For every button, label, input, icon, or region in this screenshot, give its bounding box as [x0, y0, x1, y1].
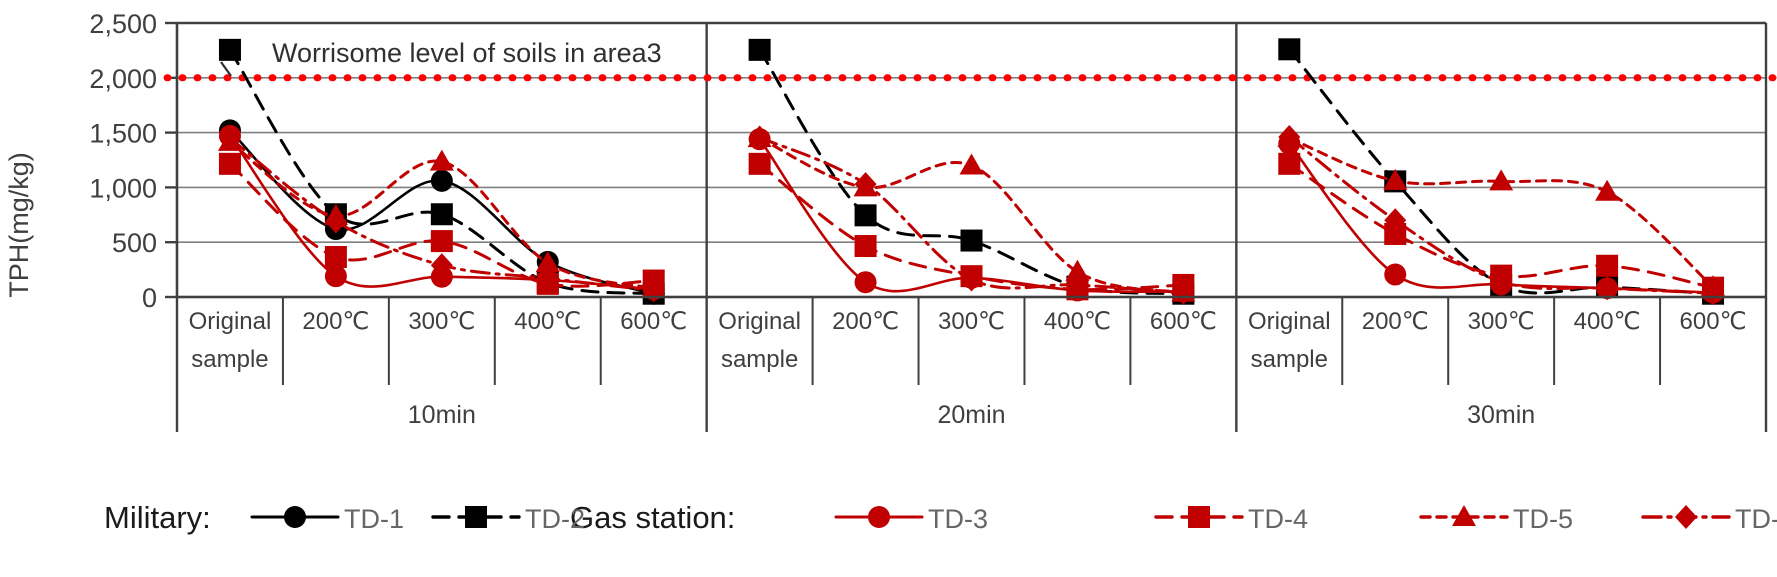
- y-axis-title: TPH(mg/kg): [4, 152, 34, 298]
- data-point-square: [1278, 38, 1300, 60]
- y-tick-label: 1,500: [89, 119, 157, 149]
- legend-item-label: TD-3: [928, 504, 988, 534]
- y-tick-label: 2,500: [89, 9, 157, 39]
- data-point-square: [855, 204, 877, 226]
- data-point-circle: [431, 170, 453, 192]
- data-point-square: [1278, 153, 1300, 175]
- x-category-label: Originalsample: [1248, 308, 1331, 373]
- x-category-label: 400℃: [514, 308, 581, 335]
- legend-item-td-6[interactable]: TD-6: [1643, 504, 1777, 534]
- x-category-label-line: 600℃: [620, 308, 687, 335]
- legend-sample-td-5: [1421, 505, 1507, 526]
- data-point-square: [219, 39, 241, 61]
- x-category-label: 200℃: [1362, 308, 1429, 335]
- x-category-label: 300℃: [408, 308, 475, 335]
- x-category-label-line: 200℃: [1362, 308, 1429, 335]
- x-category-label-line: 600℃: [1150, 308, 1217, 335]
- x-group-label: 10min: [408, 401, 476, 429]
- y-tick-label: 0: [142, 283, 157, 313]
- legend: Military:Gas station:TD-1TD-2TD-3TD-4TD-…: [104, 500, 1777, 535]
- x-axis-table: Originalsample200℃300℃400℃600℃10minOrigi…: [177, 297, 1766, 432]
- data-point-square: [1596, 255, 1618, 277]
- x-category-label-line: 300℃: [408, 308, 475, 335]
- y-tick-label: 1,000: [89, 173, 157, 203]
- legend-sample-td-1: [252, 506, 338, 528]
- x-category-label-line: sample: [1251, 346, 1328, 373]
- x-category-label: 300℃: [938, 308, 1005, 335]
- legend-item-label: TD-6: [1735, 504, 1777, 534]
- x-category-label: 300℃: [1468, 308, 1535, 335]
- tph-line-chart: TPH(mg/kg) 2,5002,0001,5001,0005000 Orig…: [0, 0, 1777, 577]
- y-tick-label: 500: [112, 228, 157, 258]
- data-point-circle: [1384, 264, 1406, 286]
- x-category-label-line: Original: [189, 308, 272, 335]
- data-point-circle: [855, 271, 877, 293]
- data-point-diamond: [1675, 505, 1697, 529]
- x-category-label-line: sample: [191, 346, 268, 373]
- x-category-label-line: Original: [718, 308, 801, 335]
- x-category-label: 200℃: [302, 308, 369, 335]
- legend-item-td-5[interactable]: TD-5: [1421, 504, 1573, 534]
- legend-sample-td-6: [1643, 505, 1729, 529]
- x-category-label-line: 300℃: [938, 308, 1005, 335]
- x-group-label: 30min: [1467, 401, 1535, 429]
- data-point-square: [1188, 506, 1210, 528]
- legend-group-military-label: Military:: [104, 500, 211, 535]
- data-point-square: [465, 506, 487, 528]
- x-category-label-line: 600℃: [1680, 308, 1747, 335]
- legend-item-td-2[interactable]: TD-2: [433, 504, 585, 534]
- legend-item-label: TD-5: [1513, 504, 1573, 534]
- data-point-circle: [325, 265, 347, 287]
- x-category-label: 400℃: [1044, 308, 1111, 335]
- x-category-label-line: 400℃: [514, 308, 581, 335]
- annotation-worrisome-level: Worrisome level of soils in area3: [272, 38, 662, 68]
- data-point-square: [749, 39, 771, 61]
- data-point-square: [749, 153, 771, 175]
- x-category-label-line: sample: [721, 346, 798, 373]
- legend-item-label: TD-1: [344, 504, 404, 534]
- legend-sample-td-3: [836, 506, 922, 528]
- legend-item-label: TD-4: [1248, 504, 1308, 534]
- data-point-square: [325, 246, 347, 268]
- x-category-label-line: 400℃: [1044, 308, 1111, 335]
- data-point-square: [855, 235, 877, 257]
- legend-group-gas-station-label: Gas station:: [570, 500, 735, 535]
- x-category-label-line: 400℃: [1574, 308, 1641, 335]
- legend-sample-td-4: [1156, 506, 1242, 528]
- x-category-label-line: 200℃: [832, 308, 899, 335]
- data-point-triangle: [1595, 180, 1619, 201]
- x-group-label: 20min: [937, 401, 1005, 429]
- y-axis-title-text: TPH(mg/kg): [4, 152, 34, 298]
- y-axis-ticks: 2,5002,0001,5001,0005000: [89, 9, 177, 313]
- x-category-label: 600℃: [1150, 308, 1217, 335]
- data-point-square: [431, 230, 453, 252]
- x-category-label: Originalsample: [189, 308, 272, 373]
- x-category-label: 600℃: [1680, 308, 1747, 335]
- data-point-square: [431, 203, 453, 225]
- data-point-circle: [868, 506, 890, 528]
- legend-item-label: TD-2: [525, 504, 585, 534]
- x-category-label: Originalsample: [718, 308, 801, 373]
- data-point-square: [219, 153, 241, 175]
- x-category-label: 200℃: [832, 308, 899, 335]
- legend-item-td-3[interactable]: TD-3: [836, 504, 988, 534]
- data-point-triangle: [960, 153, 984, 174]
- x-category-label: 600℃: [620, 308, 687, 335]
- data-point-square: [961, 230, 983, 252]
- legend-item-td-1[interactable]: TD-1: [252, 504, 404, 534]
- legend-sample-td-2: [433, 506, 519, 528]
- chart-container: TPH(mg/kg) 2,5002,0001,5001,0005000 Orig…: [0, 0, 1777, 577]
- x-category-label-line: 200℃: [302, 308, 369, 335]
- legend-item-td-4[interactable]: TD-4: [1156, 504, 1308, 534]
- y-tick-label: 2,000: [89, 64, 157, 94]
- x-category-label-line: 300℃: [1468, 308, 1535, 335]
- x-category-label: 400℃: [1574, 308, 1641, 335]
- data-point-circle: [284, 506, 306, 528]
- x-category-label-line: Original: [1248, 308, 1331, 335]
- annotation-leader-line: [221, 62, 231, 76]
